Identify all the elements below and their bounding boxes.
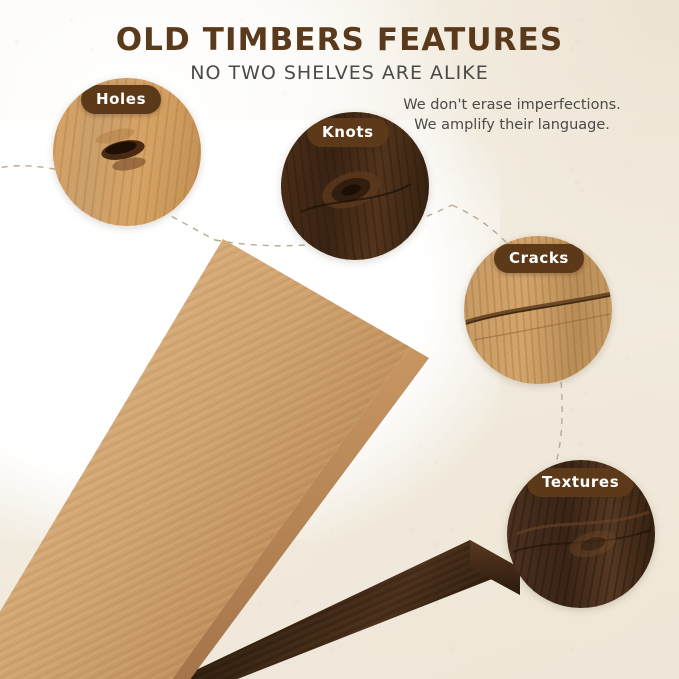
callout-label-textures: Textures — [527, 468, 634, 497]
callout-holes[interactable]: Holes — [53, 78, 201, 226]
callout-knots[interactable]: Knots — [281, 112, 429, 260]
product-infographic: OLD TIMBERS FEATURES NO TWO SHELVES ARE … — [0, 0, 679, 679]
callout-label-holes: Holes — [81, 85, 161, 114]
callout-label-cracks: Cracks — [494, 244, 584, 273]
page-title: OLD TIMBERS FEATURES — [0, 22, 679, 58]
callout-cracks[interactable]: Cracks — [464, 236, 612, 384]
callout-label-knots: Knots — [307, 118, 389, 147]
callout-textures[interactable]: Textures — [507, 460, 655, 608]
light-oak-shelf — [0, 215, 460, 679]
